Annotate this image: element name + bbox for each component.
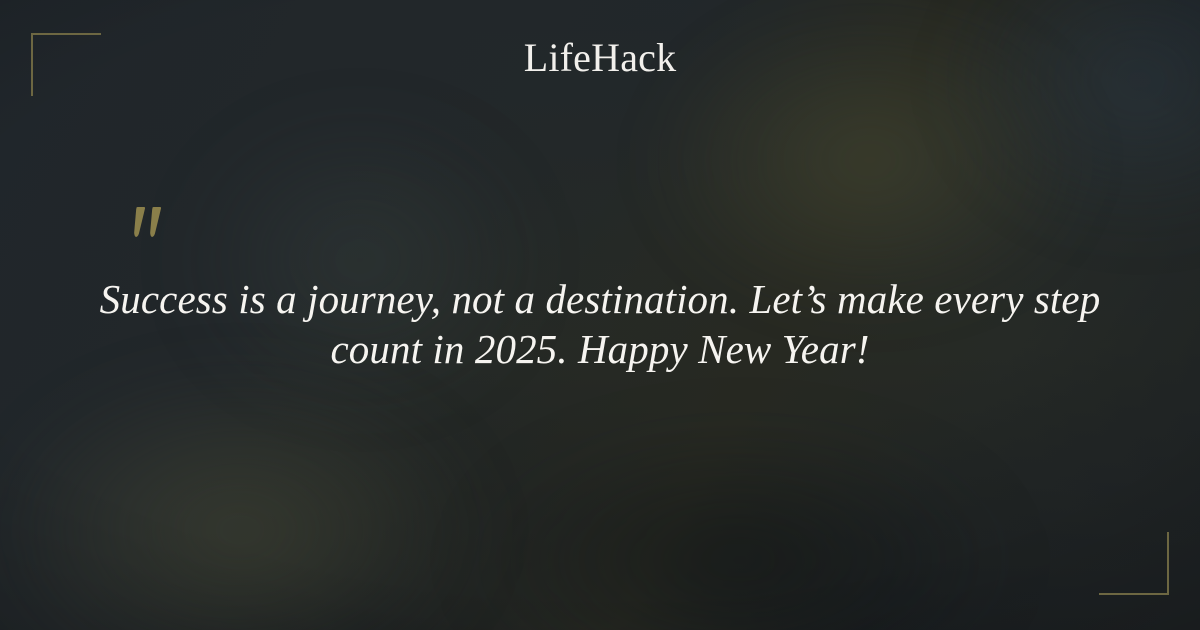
quote-card: LifeHack Success is a journey, not a des… (0, 0, 1200, 630)
corner-bracket-bottom-line (1099, 593, 1169, 595)
quotation-mark-stroke-left (132, 207, 146, 237)
quotation-mark-stroke-right (148, 207, 162, 237)
quote-text: Success is a journey, not a destination.… (95, 274, 1105, 374)
corner-bracket-bottom-right-icon (1099, 532, 1169, 595)
brand-logo: LifeHack (0, 38, 1200, 78)
quote-line: count in 2025. Happy New Year! (95, 324, 1105, 374)
corner-bracket-top-line (31, 33, 101, 35)
quotation-mark-icon (132, 203, 168, 243)
corner-bracket-right-line (1167, 532, 1169, 595)
quote-line: Success is a journey, not a destination.… (95, 274, 1105, 324)
